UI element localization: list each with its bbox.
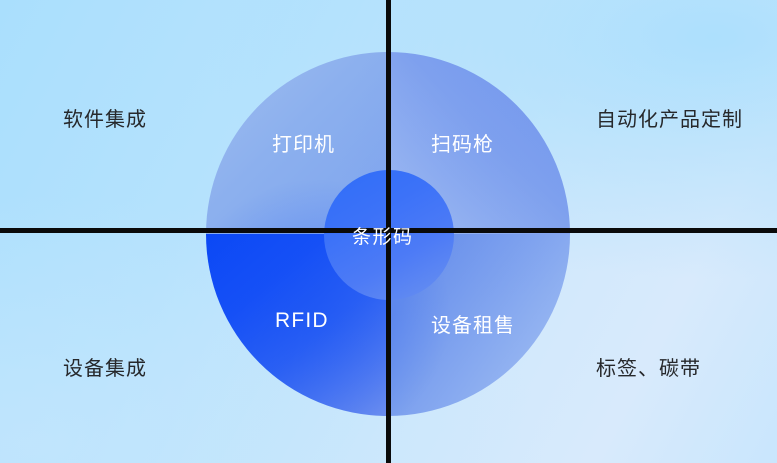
ring-label-bottom-right: 设备租售 <box>431 309 515 338</box>
ring-label-top-left: 打印机 <box>272 128 335 157</box>
ring-label-bottom-left: RFID <box>275 309 329 333</box>
ring-label-top-right: 扫码枪 <box>431 128 494 157</box>
outer-label-top-left: 软件集成 <box>63 103 147 132</box>
outer-label-top-right: 自动化产品定制 <box>596 103 743 132</box>
core-label: 条形码 <box>352 222 414 249</box>
diagram-canvas: 条形码 打印机 扫码枪 RFID 设备租售 软件集成 自动化产品定制 设备集成 … <box>0 0 777 463</box>
outer-label-bottom-right: 标签、碳带 <box>596 352 701 381</box>
outer-label-bottom-left: 设备集成 <box>63 352 147 381</box>
